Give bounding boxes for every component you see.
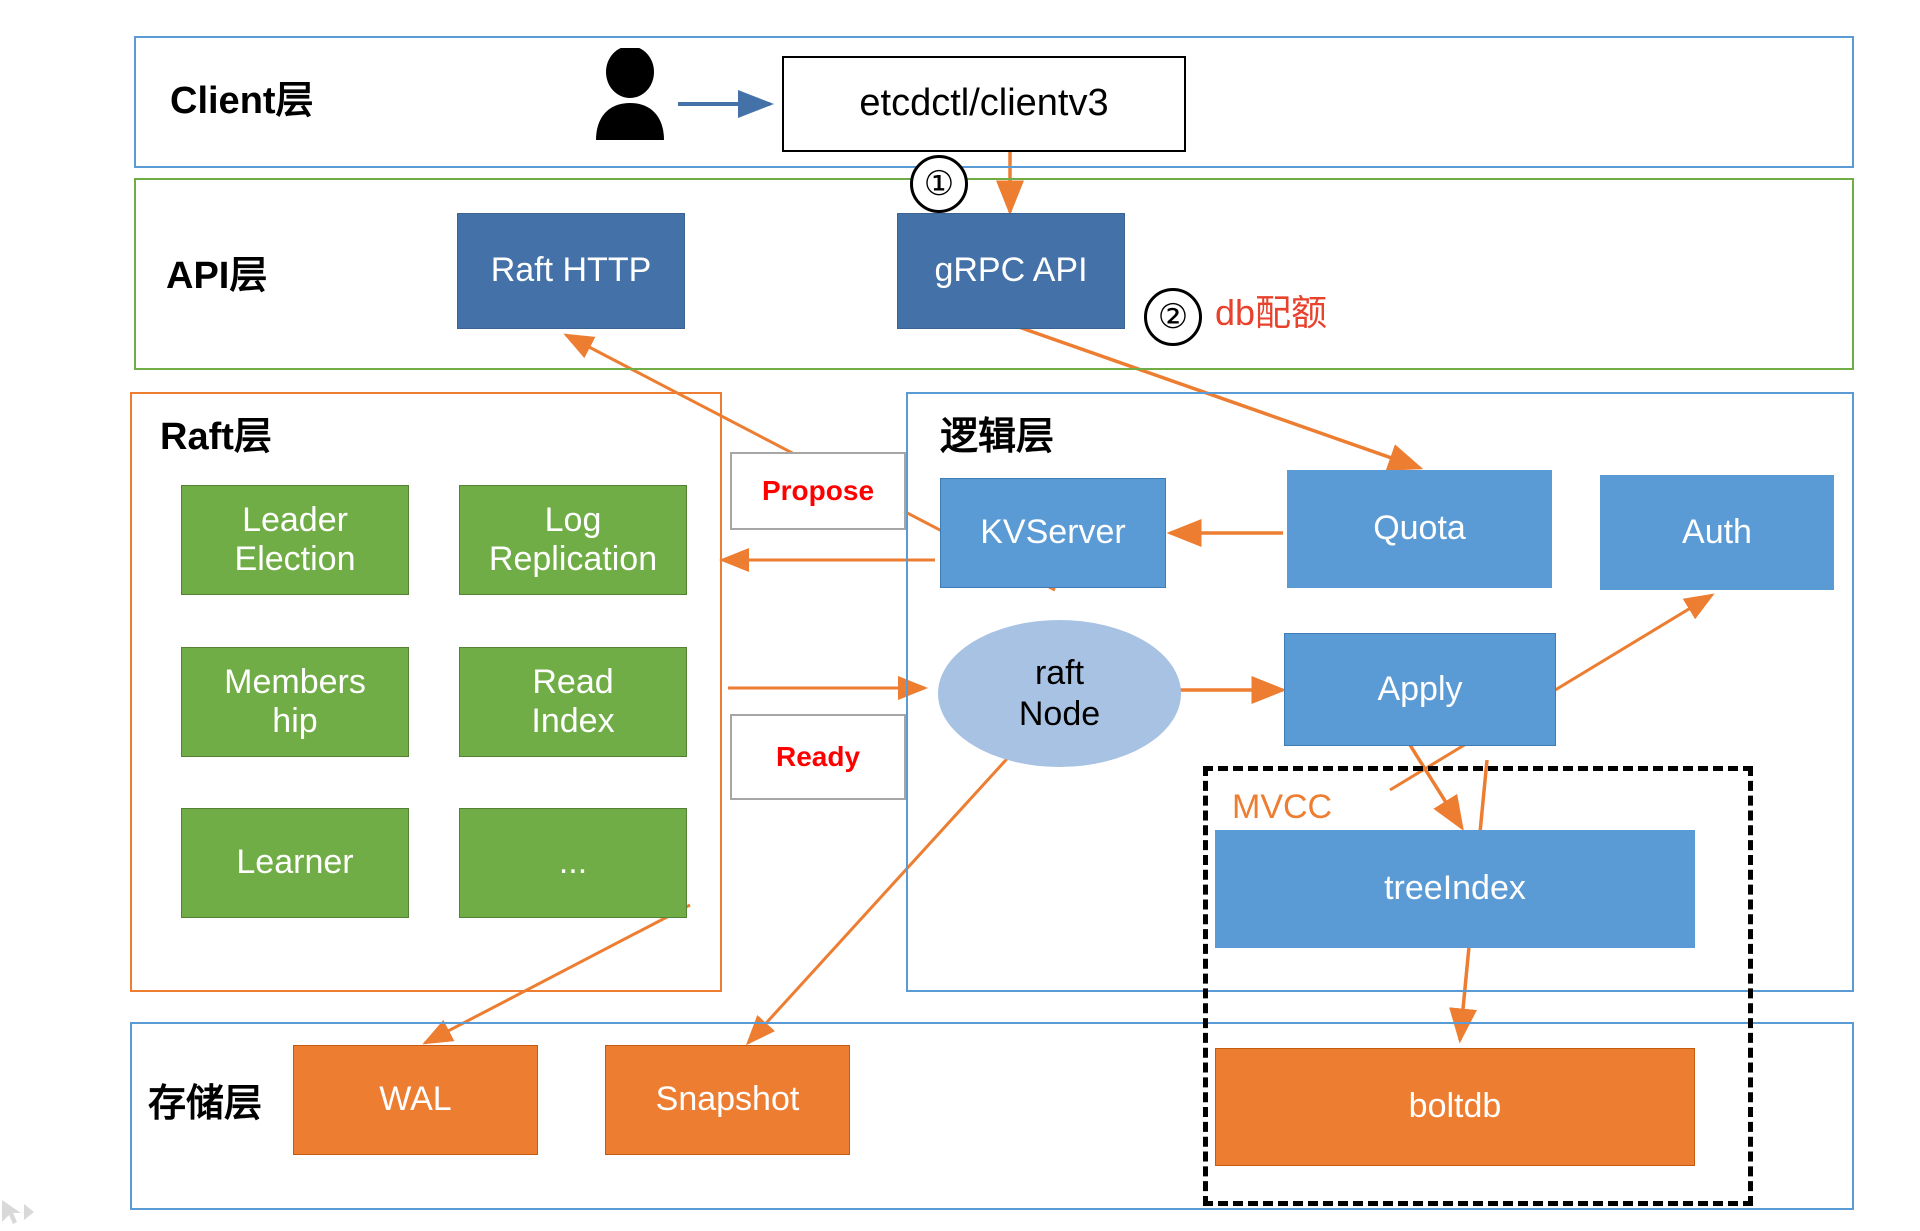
- raft-http-node[interactable]: Raft HTTP: [457, 213, 685, 329]
- grpc-api-node[interactable]: gRPC API: [897, 213, 1125, 329]
- apply-node[interactable]: Apply: [1284, 633, 1556, 746]
- step-1-marker: ①: [910, 155, 968, 213]
- diagram-canvas: Client层 API层 Raft层 逻辑层 存储层 etcdctl/clien…: [0, 0, 1920, 1227]
- auth-node[interactable]: Auth: [1600, 475, 1834, 590]
- mvcc-label: MVCC: [1232, 790, 1332, 824]
- wal-node[interactable]: WAL: [293, 1045, 538, 1155]
- propose-tag: Propose: [730, 452, 906, 530]
- raft-layer-title: Raft层: [160, 418, 272, 456]
- storage-layer-title: 存储层: [148, 1085, 262, 1123]
- raft-more-node[interactable]: ...: [459, 808, 687, 918]
- membership-node[interactable]: Members hip: [181, 647, 409, 757]
- treeindex-node[interactable]: treeIndex: [1215, 830, 1695, 948]
- boltdb-node[interactable]: boltdb: [1215, 1048, 1695, 1166]
- logic-layer-title: 逻辑层: [940, 418, 1054, 456]
- cursor-mark: [0, 1198, 40, 1226]
- leader-election-node[interactable]: Leader Election: [181, 485, 409, 595]
- ready-tag: Ready: [730, 714, 906, 800]
- kvserver-node[interactable]: KVServer: [940, 478, 1166, 588]
- learner-node[interactable]: Learner: [181, 808, 409, 918]
- raft-node-ellipse[interactable]: raft Node: [938, 620, 1181, 767]
- etcdctl-node[interactable]: etcdctl/clientv3: [782, 56, 1186, 152]
- db-quota-note: db配额: [1215, 295, 1327, 331]
- quota-node[interactable]: Quota: [1287, 470, 1552, 588]
- log-replication-node[interactable]: Log Replication: [459, 485, 687, 595]
- api-layer-title: API层: [166, 257, 267, 295]
- client-layer-title: Client层: [170, 82, 314, 120]
- step-2-marker: ②: [1144, 288, 1202, 346]
- read-index-node[interactable]: Read Index: [459, 647, 687, 757]
- snapshot-node[interactable]: Snapshot: [605, 1045, 850, 1155]
- user-icon: [586, 48, 674, 140]
